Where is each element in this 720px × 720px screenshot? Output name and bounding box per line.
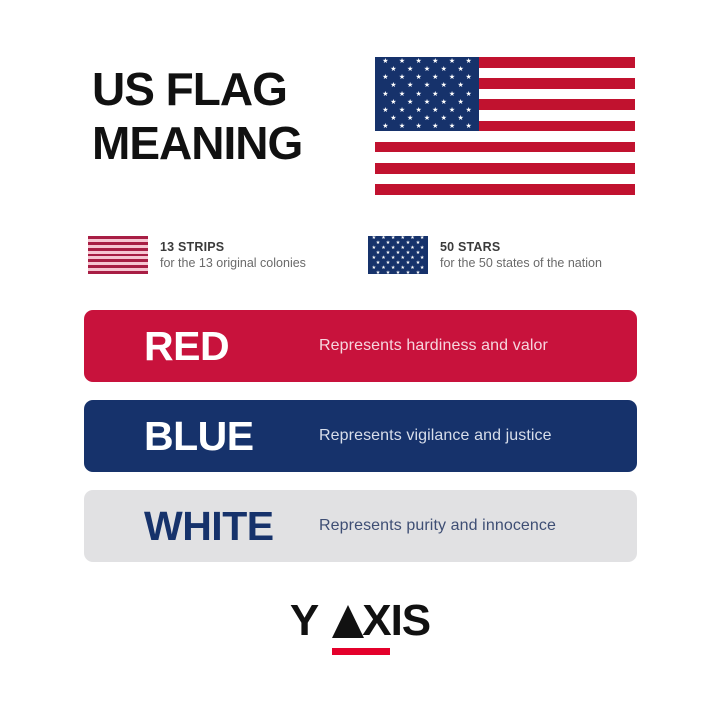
feature-13-strips: 13 STRIPS for the 13 original colonies bbox=[88, 236, 306, 274]
star-icon: ★ bbox=[382, 107, 388, 114]
star-icon: ★ bbox=[465, 91, 471, 98]
meaning-bar-red: RED Represents hardiness and valor bbox=[84, 310, 637, 382]
flag-star-row: ★★★★★ bbox=[375, 115, 479, 123]
star-icon: ★ bbox=[390, 66, 396, 73]
meaning-label-blue: BLUE bbox=[144, 413, 319, 460]
star-icon: ★ bbox=[416, 74, 422, 81]
star-icon: ★ bbox=[457, 66, 463, 73]
flag-star-row: ★★★★★★ bbox=[375, 73, 479, 81]
star-icon: ★ bbox=[396, 271, 400, 274]
star-icon: ★ bbox=[432, 107, 438, 114]
flag-stripe bbox=[375, 152, 635, 163]
meaning-bar-blue: BLUE Represents vigilance and justice bbox=[84, 400, 637, 472]
star-icon: ★ bbox=[399, 123, 405, 130]
logo-accent-underline bbox=[332, 648, 390, 655]
flag-star-row: ★★★★★★ bbox=[375, 106, 479, 114]
star-icon: ★ bbox=[432, 58, 438, 65]
flag-star-row: ★★★★★ bbox=[375, 65, 479, 73]
meaning-description-white: Represents purity and innocence bbox=[319, 517, 556, 535]
star-icon: ★ bbox=[390, 99, 396, 106]
flag-star-row: ★★★★★★ bbox=[375, 123, 479, 131]
meaning-label-red: RED bbox=[144, 323, 319, 370]
star-icon: ★ bbox=[416, 91, 422, 98]
feature-subtitle: for the 13 original colonies bbox=[160, 255, 306, 272]
star-icon: ★ bbox=[457, 115, 463, 122]
flag-stripe bbox=[375, 163, 635, 174]
feature-text: 13 STRIPS for the 13 original colonies bbox=[160, 239, 306, 272]
logo-axis: XIS bbox=[332, 598, 430, 644]
logo-letter-y: Y bbox=[290, 598, 318, 644]
page-title-line-2: MEANING bbox=[92, 116, 362, 170]
star-icon: ★ bbox=[465, 58, 471, 65]
flag-stripe bbox=[375, 174, 635, 185]
star-icon: ★ bbox=[416, 123, 422, 130]
meaning-label-white: WHITE bbox=[144, 503, 319, 550]
star-icon: ★ bbox=[390, 82, 396, 89]
star-icon: ★ bbox=[457, 99, 463, 106]
flag-canton: ★★★★★★ ★★★★★ ★★★★★★ ★★★★★ ★★★★★★ ★★★★★ ★… bbox=[375, 57, 479, 131]
star-icon: ★ bbox=[416, 107, 422, 114]
flag-stripe bbox=[375, 184, 635, 195]
page-title: US FLAG MEANING bbox=[92, 62, 362, 170]
us-flag-graphic: ★★★★★★ ★★★★★ ★★★★★★ ★★★★★ ★★★★★★ ★★★★★ ★… bbox=[375, 57, 635, 195]
star-icon: ★ bbox=[465, 123, 471, 130]
star-icon: ★ bbox=[382, 123, 388, 130]
star-icon: ★ bbox=[407, 82, 413, 89]
star-icon: ★ bbox=[424, 66, 430, 73]
star-icon: ★ bbox=[424, 99, 430, 106]
star-icon: ★ bbox=[465, 107, 471, 114]
star-icon: ★ bbox=[382, 58, 388, 65]
feature-text: 50 STARS for the 50 states of the nation bbox=[440, 239, 602, 272]
infographic-canvas: US FLAG MEANING ★★★★★★ ★★★★★ ★★★★★★ ★★★★… bbox=[0, 0, 720, 720]
feature-50-stars: ★★★★★★ ★★★★★ ★★★★★★ ★★★★★ ★★★★★★ ★★★★★ ★… bbox=[368, 236, 602, 274]
meaning-description-blue: Represents vigilance and justice bbox=[319, 427, 552, 445]
logo-chevron-a-icon bbox=[332, 605, 364, 638]
star-icon: ★ bbox=[441, 82, 447, 89]
star-icon: ★ bbox=[399, 91, 405, 98]
stripes-icon bbox=[88, 236, 148, 274]
star-icon: ★ bbox=[390, 115, 396, 122]
flag-star-row: ★★★★★ bbox=[375, 82, 479, 90]
star-icon: ★ bbox=[407, 66, 413, 73]
star-icon: ★ bbox=[416, 58, 422, 65]
star-icon: ★ bbox=[399, 58, 405, 65]
star-icon: ★ bbox=[432, 91, 438, 98]
star-icon: ★ bbox=[399, 74, 405, 81]
star-icon: ★ bbox=[407, 99, 413, 106]
star-icon: ★ bbox=[441, 115, 447, 122]
flag-stripe bbox=[375, 142, 635, 153]
star-icon: ★ bbox=[465, 74, 471, 81]
star-icon: ★ bbox=[449, 123, 455, 130]
flag-star-row: ★★★★★★ bbox=[375, 90, 479, 98]
star-icon: ★ bbox=[382, 91, 388, 98]
star-icon: ★ bbox=[432, 123, 438, 130]
flag-star-row: ★★★★★★ bbox=[375, 57, 479, 65]
star-icon: ★ bbox=[432, 74, 438, 81]
meaning-description-red: Represents hardiness and valor bbox=[319, 337, 548, 355]
star-icon: ★ bbox=[386, 271, 390, 274]
star-icon: ★ bbox=[441, 99, 447, 106]
star-icon: ★ bbox=[406, 271, 410, 274]
feature-subtitle: for the 50 states of the nation bbox=[440, 255, 602, 272]
star-icon: ★ bbox=[424, 115, 430, 122]
star-icon: ★ bbox=[449, 58, 455, 65]
star-icon: ★ bbox=[449, 74, 455, 81]
star-icon: ★ bbox=[441, 66, 447, 73]
star-icon: ★ bbox=[382, 74, 388, 81]
star-icon: ★ bbox=[449, 91, 455, 98]
logo-letters-xis: XIS bbox=[362, 598, 430, 644]
feature-title: 13 STRIPS bbox=[160, 239, 306, 255]
star-icon: ★ bbox=[457, 82, 463, 89]
flag-stripe bbox=[375, 131, 635, 142]
star-icon: ★ bbox=[449, 107, 455, 114]
star-icon: ★ bbox=[424, 82, 430, 89]
star-icon: ★ bbox=[407, 115, 413, 122]
page-title-line-1: US FLAG bbox=[92, 62, 362, 116]
stars-icon: ★★★★★★ ★★★★★ ★★★★★★ ★★★★★ ★★★★★★ ★★★★★ ★… bbox=[368, 236, 428, 274]
star-icon: ★ bbox=[376, 271, 380, 274]
meaning-bar-white: WHITE Represents purity and innocence bbox=[84, 490, 637, 562]
brand-logo: Y XIS bbox=[0, 598, 720, 644]
star-icon: ★ bbox=[416, 271, 420, 274]
flag-star-row: ★★★★★ bbox=[375, 98, 479, 106]
star-icon: ★ bbox=[399, 107, 405, 114]
feature-title: 50 STARS bbox=[440, 239, 602, 255]
